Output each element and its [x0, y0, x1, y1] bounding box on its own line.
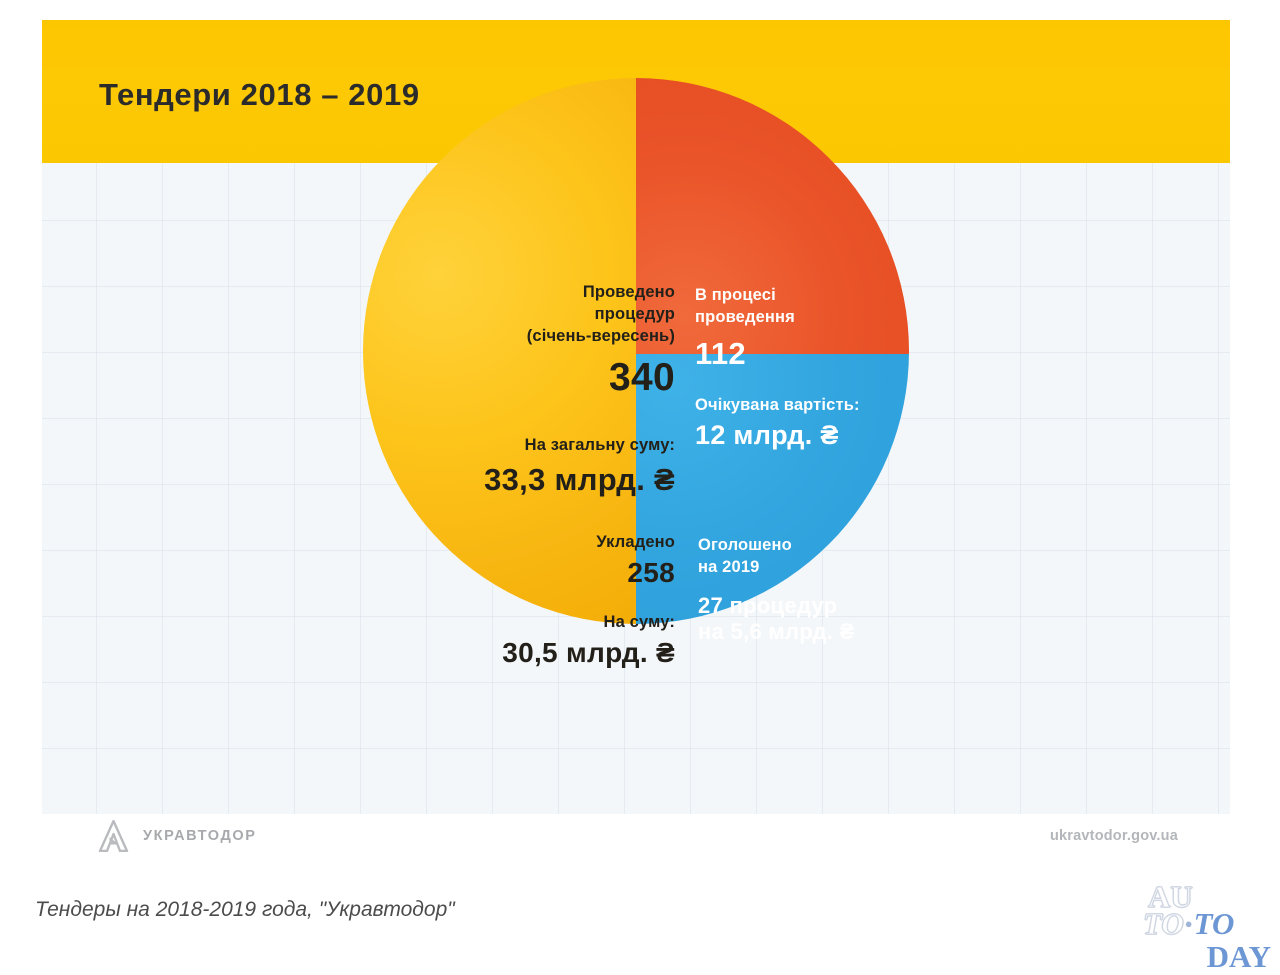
conducted-label-line1: Проведено	[423, 282, 675, 304]
slice-label-concluded: Укладено 258	[415, 532, 675, 589]
watermark-line2-outline: TO	[1143, 910, 1184, 937]
infographic-footer: УКРАВТОДОР ukravtodor.gov.ua	[42, 814, 1230, 858]
infographic-card: Тендери 2018 – 2019 Проведено процедур (…	[42, 20, 1230, 858]
concluded-value: 258	[415, 557, 675, 589]
expected-cost-label: Очікувана вартість:	[695, 395, 945, 417]
in-progress-label-line2: проведення	[695, 307, 945, 329]
in-progress-label-line1: В процесі	[695, 285, 945, 307]
slice-label-in-progress: В процесі проведення 112	[695, 285, 945, 371]
total-sum-value: 33,3 млрд. ₴	[383, 462, 675, 498]
brand-name: УКРАВТОДОР	[143, 828, 257, 844]
watermark-line3: DAY	[1207, 943, 1271, 970]
slice-label-expected-cost: Очікувана вартість: 12 млрд. ₴	[695, 395, 945, 450]
announced-label-line1: Оголошено	[698, 535, 948, 557]
total-sum-label: На загальну суму:	[383, 435, 675, 457]
slice-label-concluded-sum: На суму: 30,5 млрд. ₴	[415, 612, 675, 669]
conducted-label-line3: (січень-вересень)	[423, 326, 675, 348]
announced-value-line1: 27 процедур	[698, 593, 948, 620]
slice-label-total-sum: На загальну суму: 33,3 млрд. ₴	[383, 435, 675, 498]
slice-label-conducted: Проведено процедур (січень-вересень) 340	[423, 282, 675, 400]
brand-block: УКРАВТОДОР	[97, 820, 257, 852]
expected-cost-value: 12 млрд. ₴	[695, 420, 945, 450]
autotoday-watermark: AU TO ● TO DAY	[1143, 883, 1273, 969]
in-progress-value: 112	[695, 337, 945, 371]
ukravtodor-logo-icon	[97, 820, 131, 852]
concluded-label: Укладено	[415, 532, 675, 554]
watermark-dot-icon: ●	[1184, 910, 1194, 937]
slice-label-announced: Оголошено на 2019 27 процедур на 5,6 млр…	[698, 535, 948, 646]
announced-label-line2: на 2019	[698, 557, 948, 579]
conducted-label-line2: процедур	[423, 304, 675, 326]
watermark-line2-blue: TO	[1194, 910, 1235, 937]
conducted-value: 340	[423, 356, 675, 400]
concluded-sum-value: 30,5 млрд. ₴	[415, 637, 675, 669]
image-caption: Тендеры на 2018-2019 года, "Укравтодор"	[35, 898, 455, 922]
concluded-sum-label: На суму:	[415, 612, 675, 634]
site-url[interactable]: ukravtodor.gov.ua	[1050, 828, 1178, 844]
announced-value-line2: на 5,6 млрд. ₴	[698, 619, 948, 646]
